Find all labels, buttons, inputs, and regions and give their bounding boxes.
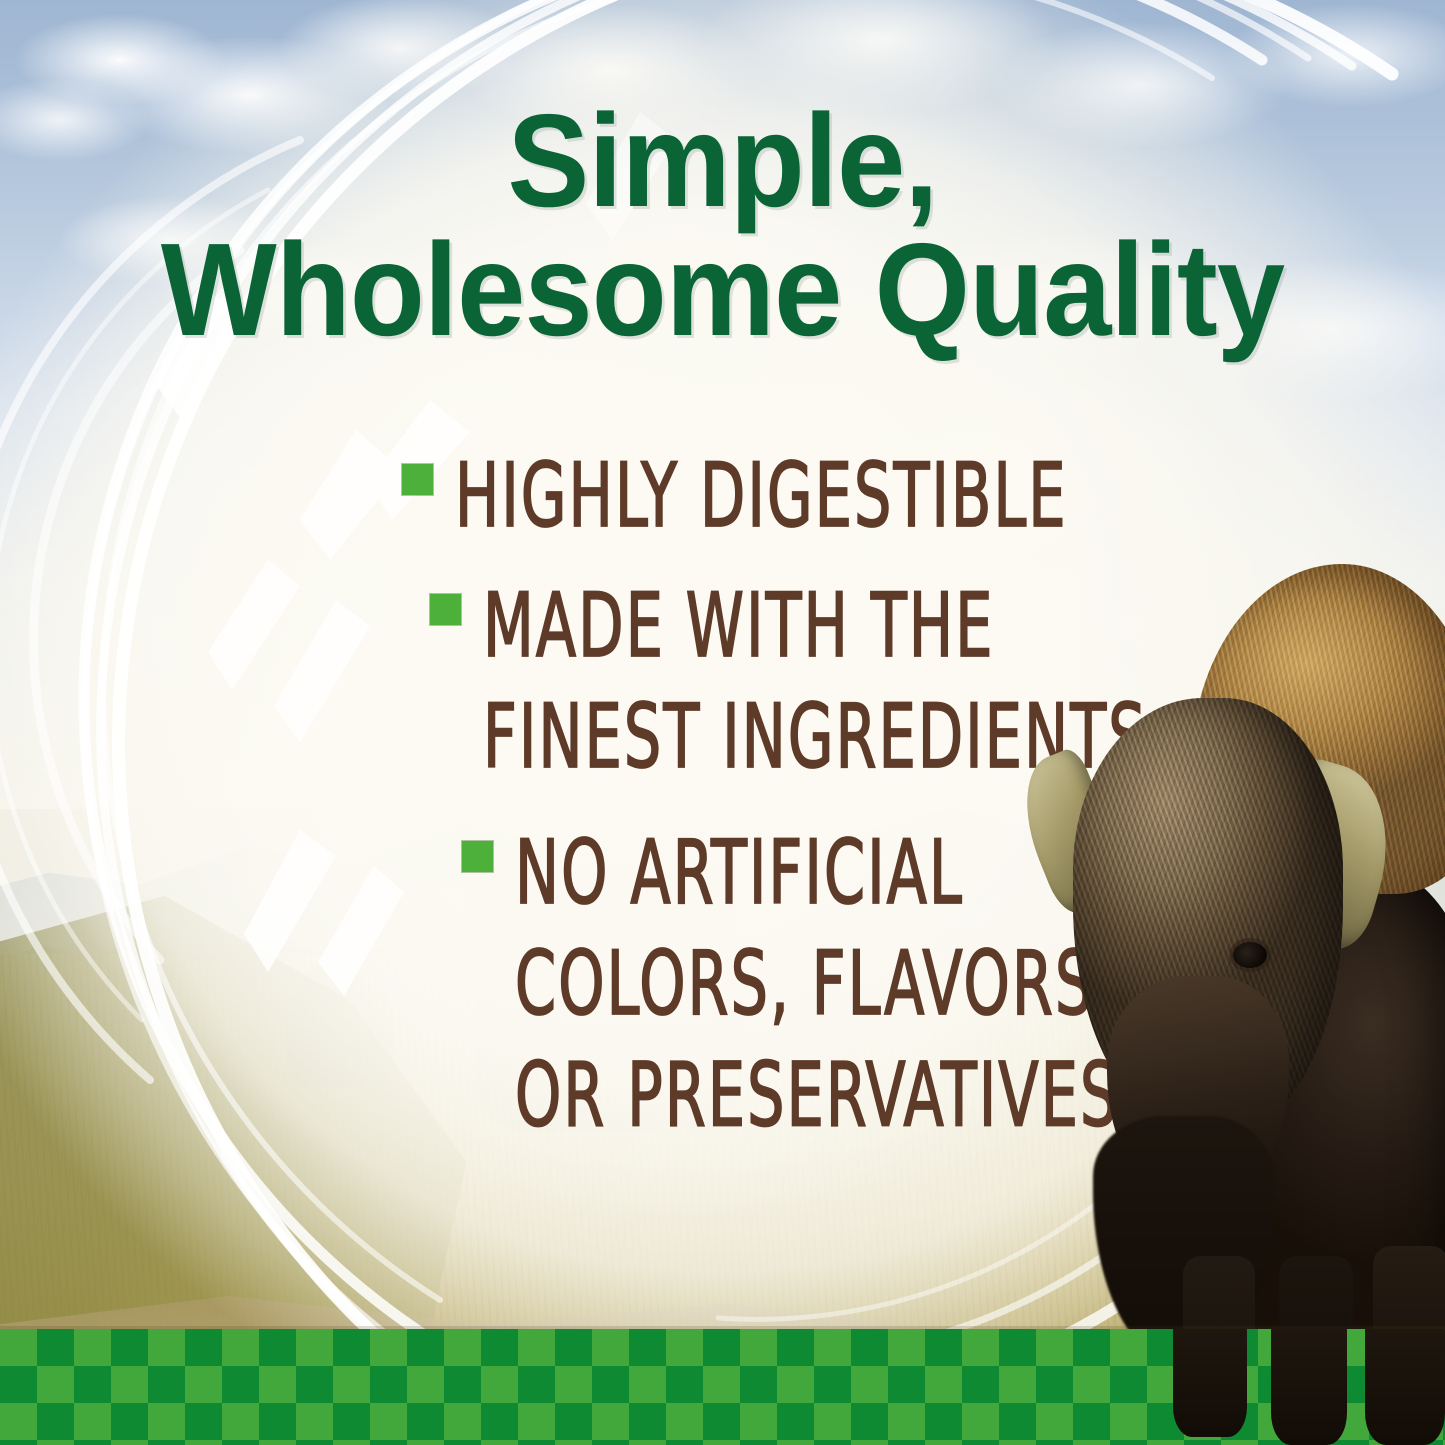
bison-eye [1233, 942, 1267, 968]
bison-leg-middle-lower [1271, 1329, 1347, 1445]
bison-leg-rear-lower [1365, 1329, 1445, 1445]
feature-bullet-list: HIGHLY DIGESTIBLE MADE WITH THE FINEST I… [0, 440, 1010, 1139]
bison-legs-overlay [1025, 1329, 1445, 1445]
bullet-text-line: HIGHLY DIGESTIBLE [455, 440, 1068, 551]
bison-photo [1021, 556, 1445, 1386]
green-square-bullet-icon [462, 841, 493, 872]
bullet-text: HIGHLY DIGESTIBLE [455, 440, 1068, 551]
list-item: HIGHLY DIGESTIBLE [0, 440, 1010, 536]
green-square-bullet-icon [402, 464, 433, 495]
headline-line-2: Wholesome Quality [51, 225, 1395, 354]
bison-leg-front-lower [1173, 1329, 1247, 1437]
headline-line-1: Simple, [51, 96, 1395, 225]
list-item: NO ARTIFICIAL COLORS, FLAVORS, OR PRESER… [0, 817, 1010, 1104]
product-feature-poster: Simple, Wholesome Quality HIGHLY DIGESTI… [0, 0, 1445, 1445]
list-item: MADE WITH THE FINEST INGREDIENTS [0, 570, 1010, 762]
green-square-bullet-icon [430, 594, 461, 625]
page-title: Simple, Wholesome Quality [51, 96, 1395, 355]
